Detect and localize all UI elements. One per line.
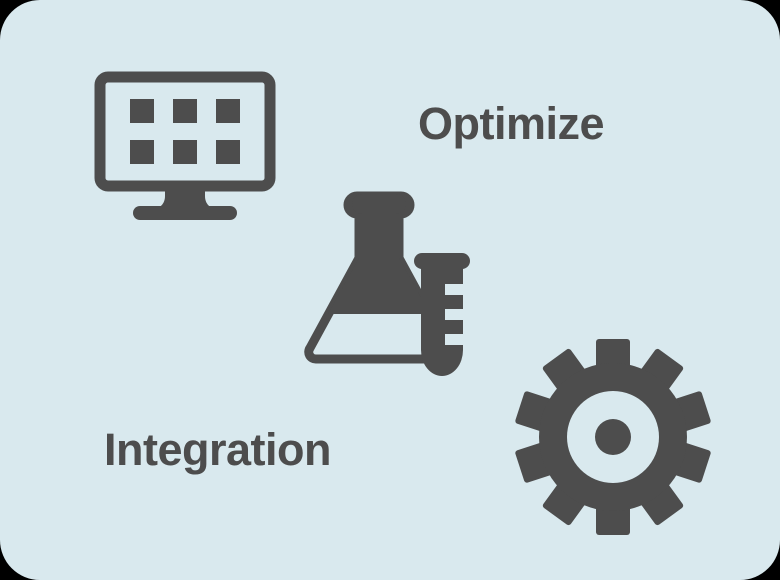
monitor-grid-icon bbox=[94, 70, 276, 225]
flask-test-tube-icon bbox=[300, 190, 490, 386]
label-optimize: Optimize bbox=[418, 101, 604, 146]
label-integration: Integration bbox=[104, 427, 331, 472]
gear-icon bbox=[513, 337, 713, 537]
diagram-canvas: Optimize Integration bbox=[0, 0, 780, 580]
